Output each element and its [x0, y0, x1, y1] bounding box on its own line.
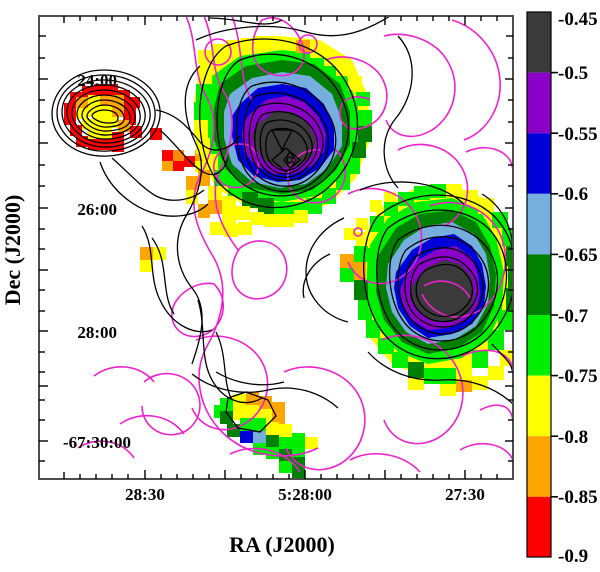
colorbar-swatch-dark-green: [527, 254, 551, 315]
colorbar-ticklabel-0: -0.45: [558, 9, 598, 30]
colorbar-swatch-light-blue: [527, 194, 551, 255]
astronomical-map-figure: 28:30 5:28:00 27:30 24:00 26:00 28:00 -6…: [0, 0, 600, 572]
colorbar-swatch-blue: [527, 133, 551, 194]
y-ticklabel-1: 26:00: [77, 200, 117, 219]
colorbar-ticklabel-6: -0.75: [558, 366, 598, 387]
y-ticklabel-3: -67:30:00: [63, 433, 131, 452]
colorbar-ticklabel-2: -0.55: [558, 124, 598, 145]
colorbar-ticklabel-7: -0.8: [558, 427, 588, 448]
x-ticklabel-1: 5:28:00: [278, 485, 332, 504]
colorbar-ticklabel-5: -0.7: [558, 306, 589, 327]
colorbar-swatch-purple: [527, 73, 551, 134]
y-ticklabel-0: 24:00: [77, 71, 117, 90]
colorbar-ticklabel-9: -0.9: [558, 546, 588, 567]
colorbar-swatch-red: [527, 497, 551, 557]
figure-root: 28:30 5:28:00 27:30 24:00 26:00 28:00 -6…: [0, 0, 600, 572]
colorbar-ticklabel-1: -0.5: [558, 63, 588, 84]
y-axis-title: Dec (J2000): [0, 195, 25, 306]
x-ticklabel-0: 28:30: [125, 485, 165, 504]
x-axis-title: RA (J2000): [229, 532, 335, 557]
y-ticklabel-2: 28:00: [77, 323, 117, 342]
colorbar-swatch-bright-green: [527, 315, 551, 376]
colorbar-ticklabel-4: -0.65: [558, 245, 598, 266]
colorbar-ticklabel-3: -0.6: [558, 184, 588, 205]
colorbar-swatch-dark-gray: [527, 12, 551, 73]
colorbar-ticklabel-8: -0.85: [558, 487, 598, 508]
colorbar-swatch-yellow: [527, 376, 551, 437]
colorbar-swatch-orange: [527, 436, 551, 497]
x-ticklabel-2: 27:30: [445, 485, 485, 504]
